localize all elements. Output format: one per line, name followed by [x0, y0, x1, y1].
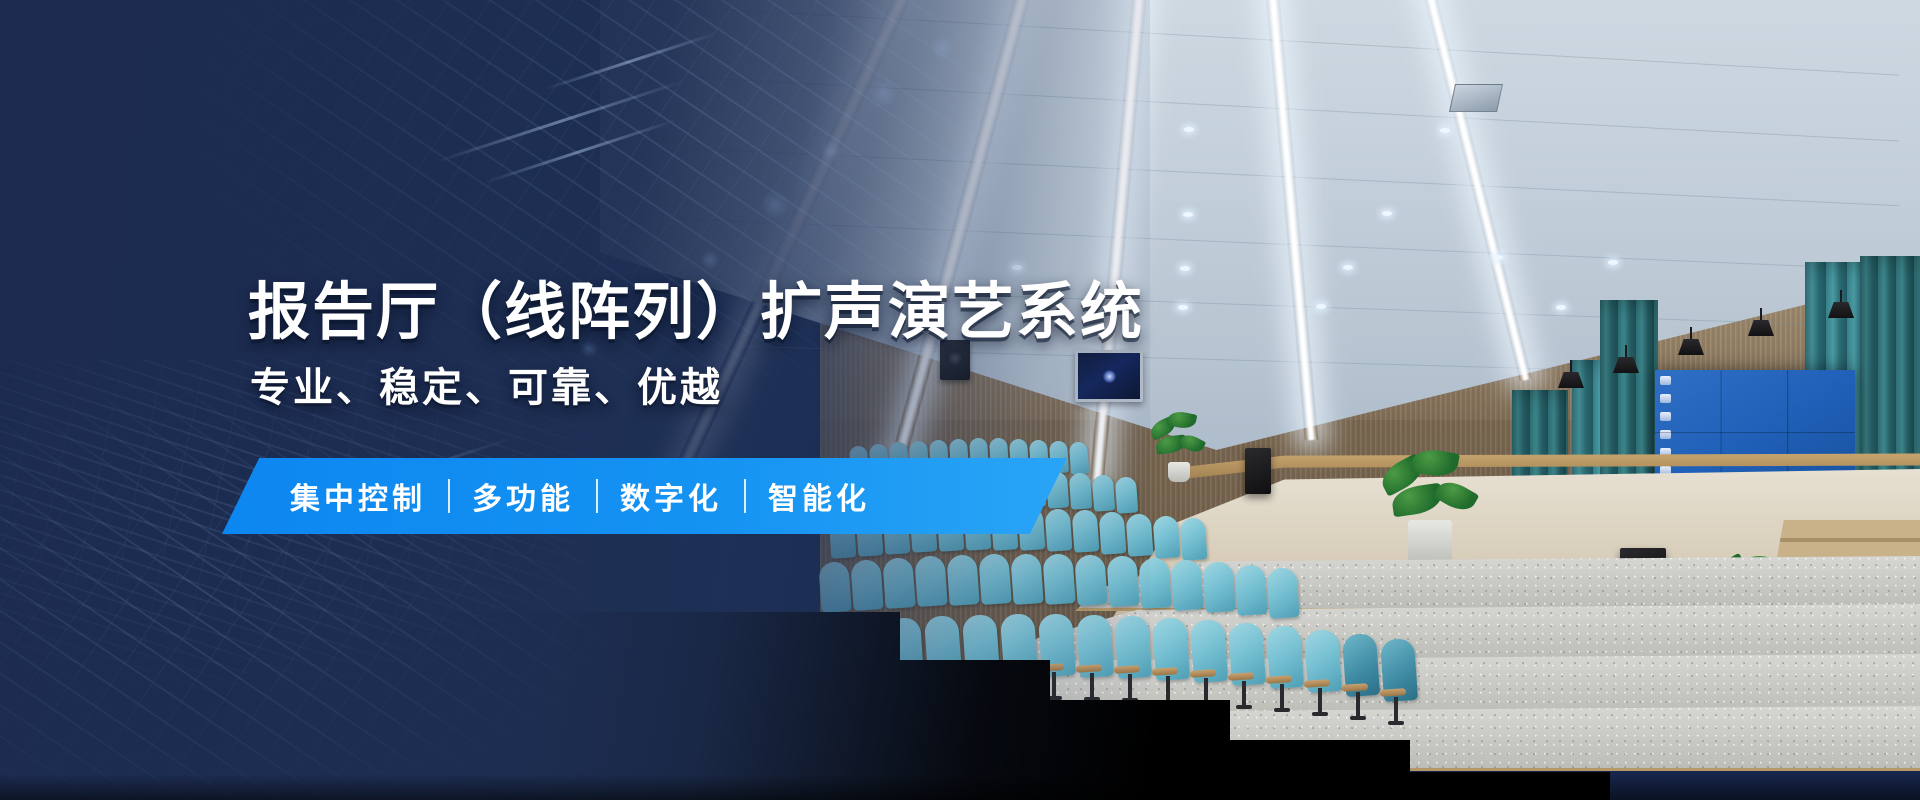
- feature-tag-digitization: 数字化: [618, 474, 724, 518]
- promo-banner: 报告厅（线阵列）扩声演艺系统 专业、稳定、可靠、优越 集中控制 多功能 数字化 …: [0, 0, 1920, 800]
- feature-tag-intelligent: 智能化: [766, 474, 872, 518]
- feature-tag-centralized-control: 集中控制: [288, 474, 428, 518]
- feature-tag-list: 集中控制 多功能 数字化 智能化: [288, 474, 872, 518]
- tag-separator-3: [744, 479, 746, 513]
- banner-subheadline: 专业、稳定、可靠、优越: [250, 368, 723, 408]
- feature-tag-multifunction: 多功能: [470, 474, 576, 518]
- tag-separator-1: [448, 479, 450, 513]
- tag-separator-2: [596, 479, 598, 513]
- banner-headline: 报告厅（线阵列）扩声演艺系统: [248, 282, 1144, 344]
- feature-tag-bar: 集中控制 多功能 数字化 智能化: [222, 458, 1067, 534]
- banner-content: 报告厅（线阵列）扩声演艺系统 专业、稳定、可靠、优越 集中控制 多功能 数字化 …: [0, 0, 1920, 800]
